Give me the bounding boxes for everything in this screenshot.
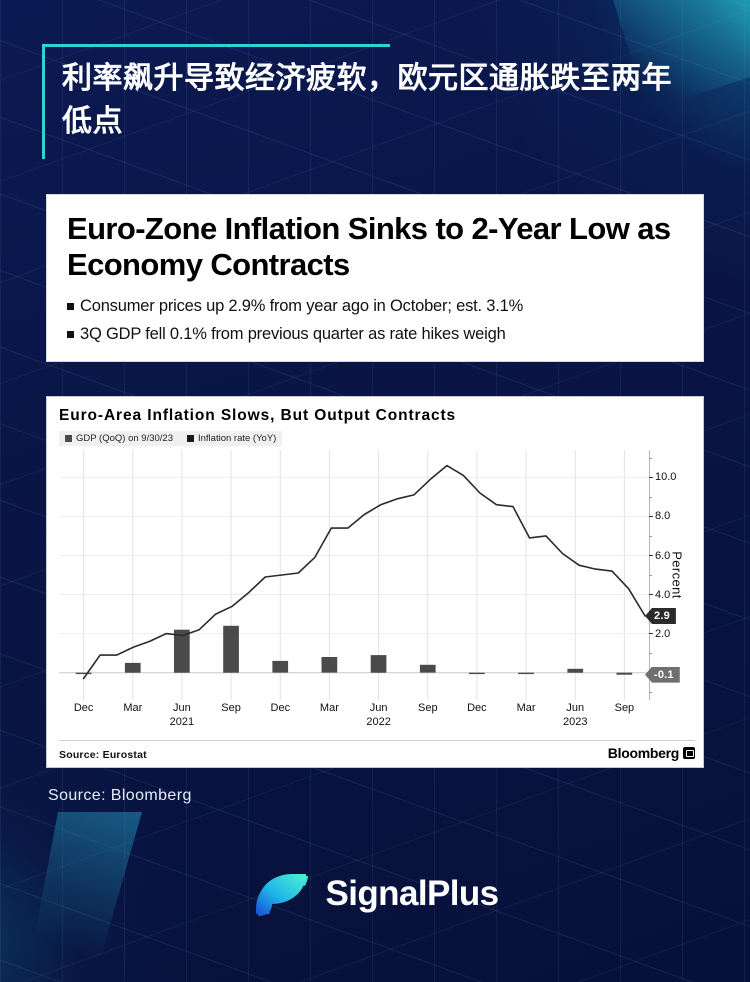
tick-mark-icon <box>649 594 653 595</box>
legend-label: GDP (QoQ) on 9/30/23 <box>76 433 173 444</box>
chart-y-axis: 10.0 8.0 6.0 4.0 2.0 Percent 2.9-0.1 <box>649 450 695 700</box>
tick-label: 8.0 <box>655 510 670 522</box>
x-axis-month: Mar <box>320 702 339 714</box>
bloomberg-wordmark: Bloomberg <box>608 745 679 761</box>
legend-label: Inflation rate (YoY) <box>198 433 276 444</box>
chart-x-axis-labels: Dec Mar Jun 2021 Sep Dec <box>59 702 649 738</box>
x-axis-month: Sep <box>615 702 635 714</box>
y-axis-minor-tick <box>649 458 652 459</box>
tick-mark-icon <box>649 633 653 634</box>
x-axis-year: 2021 <box>170 716 194 730</box>
x-axis-year: 2023 <box>563 716 587 730</box>
chart-card: Euro-Area Inflation Slows, But Output Co… <box>46 396 704 768</box>
x-axis-month: Sep <box>418 702 438 714</box>
chart-plot-area: 10.0 8.0 6.0 4.0 2.0 Percent 2.9-0.1 <box>59 450 695 700</box>
list-item: Consumer prices up 2.9% from year ago in… <box>67 296 685 317</box>
status-badge: -0.1 <box>645 667 680 683</box>
chart-footer: Source: Eurostat Bloomberg <box>59 740 695 761</box>
tick-label: 10.0 <box>655 471 676 483</box>
x-axis-tick-label: Jun 2022 <box>366 702 390 730</box>
headline-block: 利率飙升导致经济疲软，欧元区通胀跌至两年低点 <box>42 44 710 143</box>
x-axis-month: Jun <box>370 702 388 714</box>
y-axis-tick: 2.0 <box>649 628 670 640</box>
x-axis-tick-label: Sep <box>221 702 241 716</box>
tick-mark-icon <box>649 477 653 478</box>
x-axis-tick-label: Jun 2021 <box>170 702 194 730</box>
x-axis-month: Jun <box>173 702 191 714</box>
x-axis-tick-label: Sep <box>418 702 438 716</box>
headline-text: 利率飙升导致经济疲软，欧元区通胀跌至两年低点 <box>42 44 697 143</box>
bloomberg-logo-icon <box>683 747 695 759</box>
tick-mark-icon <box>649 516 653 517</box>
news-bullet-list: Consumer prices up 2.9% from year ago in… <box>67 296 685 345</box>
x-axis-month: Jun <box>566 702 584 714</box>
chart-svg <box>59 450 649 700</box>
x-axis-year: 2022 <box>366 716 390 730</box>
legend-item-gdp: GDP (QoQ) on 9/30/23 <box>65 433 173 444</box>
brand-name: SignalPlus <box>326 874 499 914</box>
legend-swatch-icon <box>187 435 194 442</box>
x-axis-month: Sep <box>221 702 241 714</box>
y-axis-label: Percent <box>670 551 685 599</box>
x-axis-month: Dec <box>467 702 487 714</box>
legend-swatch-icon <box>65 435 72 442</box>
bloomberg-attribution: Bloomberg <box>608 745 695 761</box>
news-headline-title: Euro-Zone Inflation Sinks to 2-Year Low … <box>67 211 685 284</box>
x-axis-tick-label: Mar <box>517 702 536 716</box>
y-axis-minor-tick <box>649 653 652 654</box>
chart-legend: GDP (QoQ) on 9/30/23 Inflation rate (YoY… <box>59 431 282 446</box>
tick-label: 2.0 <box>655 628 670 640</box>
news-bullet-text: 3Q GDP fell 0.1% from previous quarter a… <box>80 324 506 345</box>
tick-label: 4.0 <box>655 589 670 601</box>
x-axis-month: Mar <box>517 702 536 714</box>
list-item: 3Q GDP fell 0.1% from previous quarter a… <box>67 324 685 345</box>
y-axis-minor-tick <box>649 497 652 498</box>
y-axis-tick: 8.0 <box>649 510 670 522</box>
y-axis-minor-tick <box>649 536 652 537</box>
brand-footer: SignalPlus <box>0 866 750 922</box>
x-axis-month: Dec <box>74 702 94 714</box>
x-axis-tick-label: Sep <box>615 702 635 716</box>
bullet-square-icon <box>67 303 74 310</box>
chart-canvas <box>59 450 649 700</box>
chart-title: Euro-Area Inflation Slows, But Output Co… <box>59 407 693 425</box>
y-axis-tick: 10.0 <box>649 471 676 483</box>
y-axis-minor-tick <box>649 575 652 576</box>
bullet-square-icon <box>67 331 74 338</box>
x-axis-month: Dec <box>271 702 291 714</box>
source-caption: Source: Bloomberg <box>48 787 192 805</box>
poster-root: 利率飙升导致经济疲软，欧元区通胀跌至两年低点 Euro-Zone Inflati… <box>0 0 750 982</box>
x-axis-tick-label: Dec <box>74 702 94 716</box>
tick-mark-icon <box>649 555 653 556</box>
x-axis-tick-label: Mar <box>320 702 339 716</box>
news-bullet-text: Consumer prices up 2.9% from year ago in… <box>80 296 523 317</box>
x-axis-tick-label: Dec <box>271 702 291 716</box>
signalplus-logo-icon <box>252 866 312 922</box>
y-axis-tick: 6.0 <box>649 550 670 562</box>
x-axis-tick-label: Mar <box>123 702 142 716</box>
tick-label: 6.0 <box>655 550 670 562</box>
x-axis-month: Mar <box>123 702 142 714</box>
y-axis-tick: 4.0 <box>649 589 670 601</box>
chart-source: Source: Eurostat <box>59 749 147 761</box>
y-axis-minor-tick <box>649 692 652 693</box>
x-axis-tick-label: Dec <box>467 702 487 716</box>
x-axis-tick-label: Jun 2023 <box>563 702 587 730</box>
news-headline-card: Euro-Zone Inflation Sinks to 2-Year Low … <box>46 194 704 362</box>
legend-item-inflation: Inflation rate (YoY) <box>187 433 276 444</box>
